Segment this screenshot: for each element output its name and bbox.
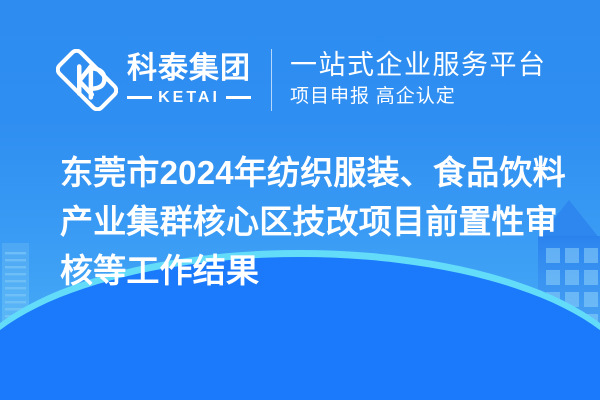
slogan-primary: 一站式企业服务平台 bbox=[290, 50, 547, 81]
ketai-diamond-kp-logo-icon bbox=[56, 49, 118, 111]
page-title-line-2: 产业集群核心区技改项目前置性审 bbox=[60, 197, 580, 246]
brand-wordmark: 科泰集团 KETAI bbox=[127, 53, 251, 107]
building-right-mid bbox=[481, 296, 538, 371]
page-title-line-1: 东莞市2024年纺织服装、食品饮料 bbox=[60, 148, 580, 197]
page-title-line-3: 核等工作结果 bbox=[60, 246, 580, 295]
wordmark-rule-left bbox=[127, 96, 152, 99]
brand-logo[interactable]: 科泰集团 KETAI bbox=[56, 49, 251, 111]
promotional-banner: 科泰集团 KETAI 一站式企业服务平台 项目申报 高企认定 东莞市2024年纺… bbox=[0, 0, 600, 400]
header-divider bbox=[271, 49, 272, 111]
wordmark-rule-right bbox=[226, 96, 251, 99]
brand-name-en: KETAI bbox=[152, 89, 226, 107]
page-title: 东莞市2024年纺织服装、食品饮料 产业集群核心区技改项目前置性审 核等工作结果 bbox=[60, 148, 580, 295]
brand-name-cn: 科泰集团 bbox=[127, 53, 251, 85]
banner-header: 科泰集团 KETAI 一站式企业服务平台 项目申报 高企认定 bbox=[0, 40, 600, 120]
slogan-group: 一站式企业服务平台 项目申报 高企认定 bbox=[290, 50, 547, 110]
building-left-low bbox=[24, 322, 72, 364]
brand-name-en-row: KETAI bbox=[127, 89, 251, 107]
building-left-tower bbox=[2, 243, 29, 363]
slogan-secondary: 项目申报 高企认定 bbox=[290, 85, 547, 110]
